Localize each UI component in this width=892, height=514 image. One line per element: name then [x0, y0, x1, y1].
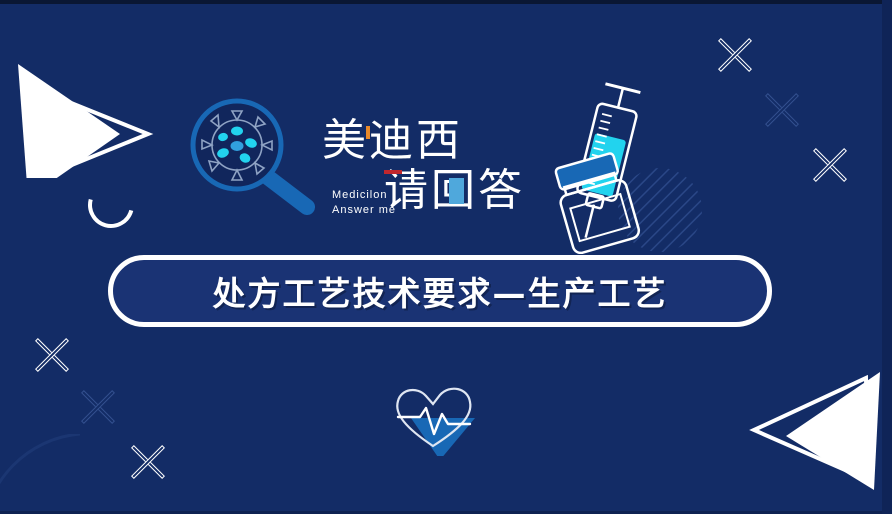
brand-logo: 美迪西 请回答 Medicilon Answer me — [322, 122, 522, 234]
triangle-pair-left-icon — [746, 368, 892, 514]
magnifier-virus-icon — [185, 95, 315, 215]
brand-red-accent — [384, 170, 402, 174]
brand-cn-line1: 美迪西 — [322, 118, 463, 164]
brand-blue-accent — [449, 178, 464, 204]
cross-mark-icon — [76, 385, 120, 429]
brand-en: Medicilon Answer me — [332, 188, 396, 218]
page-title: 处方工艺技术要求—生产工艺 — [213, 267, 668, 315]
cross-mark-icon — [808, 143, 852, 187]
brand-en-line2: Answer me — [332, 203, 396, 218]
cross-mark-icon — [30, 333, 74, 377]
heartbeat-icon — [378, 368, 488, 456]
top-edge-strip — [0, 0, 892, 4]
cross-mark-icon — [126, 440, 170, 484]
arc-icon — [80, 174, 143, 237]
corner-curve-decoration — [0, 434, 90, 514]
medicine-vial-icon — [540, 148, 660, 254]
brand-orange-accent — [366, 126, 370, 139]
cross-mark-icon — [760, 88, 804, 132]
brand-en-line1: Medicilon — [332, 188, 396, 203]
slide-canvas: 美迪西 请回答 Medicilon Answer me — [0, 0, 892, 514]
cross-mark-icon — [713, 33, 757, 77]
title-banner: 处方工艺技术要求—生产工艺 — [108, 255, 772, 327]
triangle-pair-right-icon — [8, 38, 158, 178]
